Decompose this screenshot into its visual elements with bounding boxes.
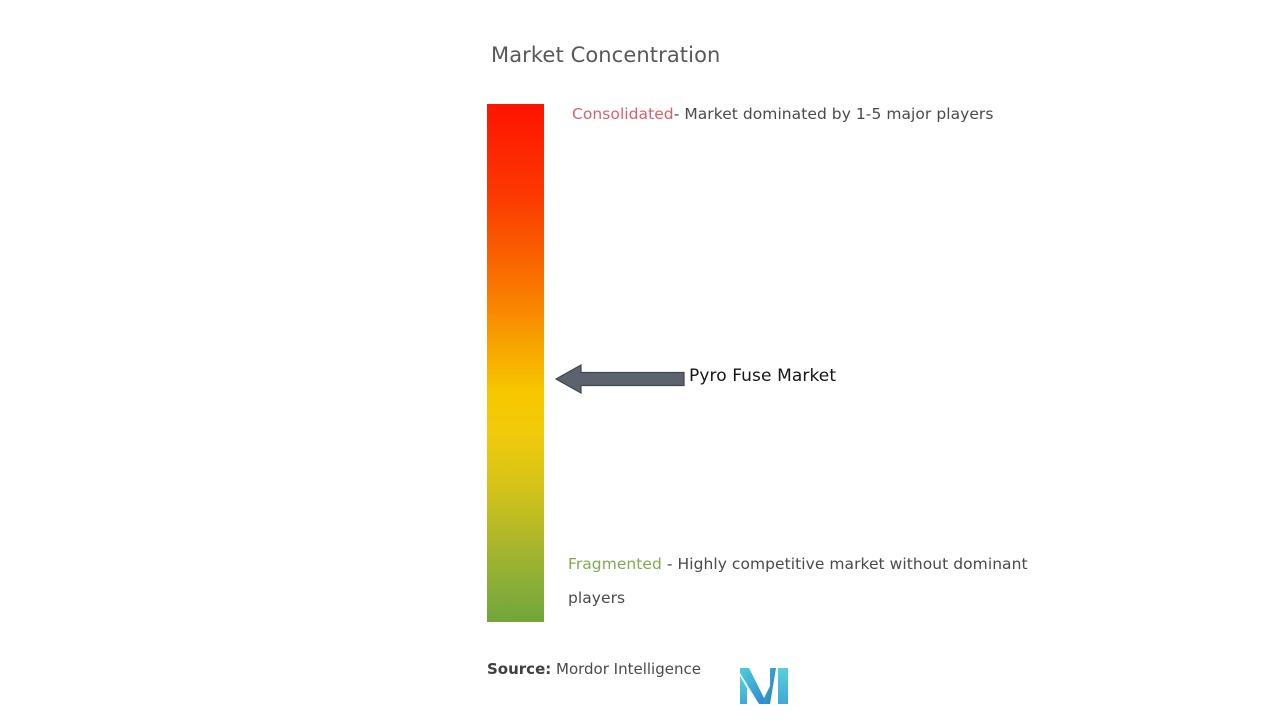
concentration-gradient-bar bbox=[487, 104, 544, 622]
legend-fragmented-term: Fragmented bbox=[568, 555, 662, 573]
legend-fragmented: Fragmented - Highly competitive market w… bbox=[568, 547, 1068, 615]
market-position-arrow-icon bbox=[553, 358, 685, 400]
market-concentration-chart: Market Concentration Consolidated- Marke… bbox=[0, 0, 1280, 720]
legend-consolidated-description: - Market dominated by 1-5 major players bbox=[674, 105, 994, 123]
mordor-intelligence-logo-icon bbox=[740, 668, 788, 704]
market-position-label: Pyro Fuse Market bbox=[689, 366, 836, 386]
legend-consolidated: Consolidated- Market dominated by 1-5 ma… bbox=[572, 97, 993, 131]
legend-consolidated-term: Consolidated bbox=[572, 105, 674, 123]
source-label: Source: bbox=[487, 660, 551, 678]
page-title: Market Concentration bbox=[491, 43, 720, 67]
source-value: Mordor Intelligence bbox=[551, 660, 701, 678]
source-attribution: Source: Mordor Intelligence bbox=[487, 660, 701, 678]
